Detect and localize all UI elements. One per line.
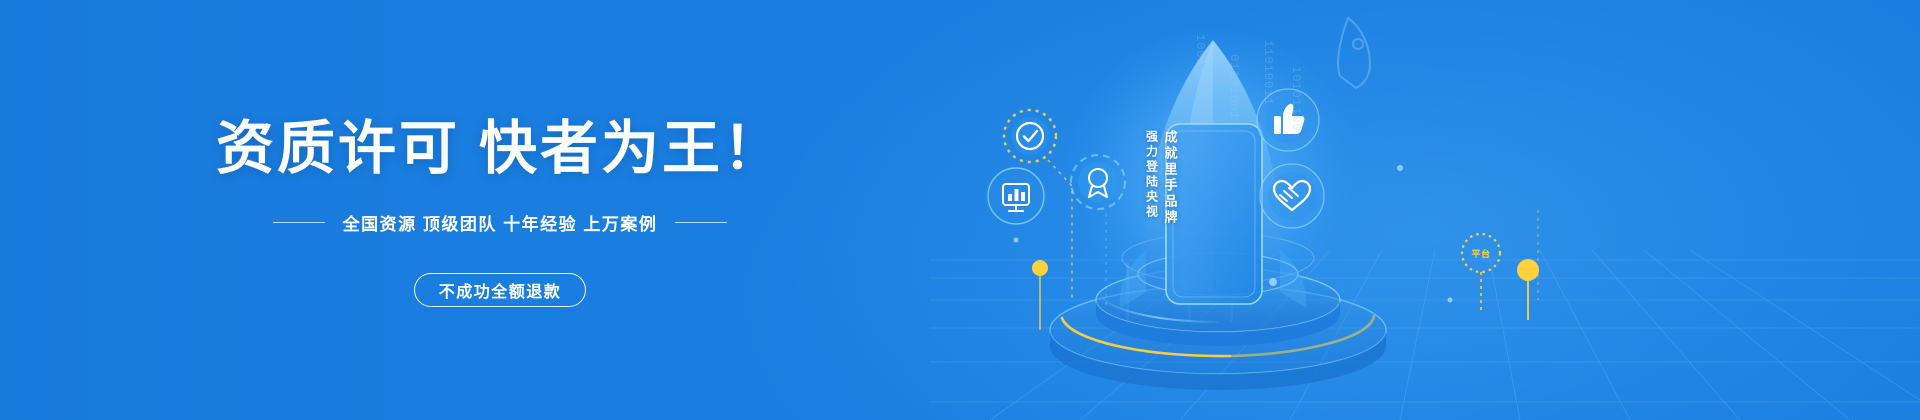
hero-illustration: 成就里手品牌 强力登陆央视 平台 10011010 01101001 11010… (930, 0, 1920, 420)
promotional-banner: 成就里手品牌 强力登陆央视 平台 10011010 01101001 11010… (0, 0, 1920, 420)
binary-stream-1: 10011010 (1192, 34, 1207, 100)
binary-stream-3: 11010011 (1260, 40, 1275, 106)
subtitle-text: 全国资源 顶级团队 十年经验 上万案例 (343, 210, 658, 235)
yellow-pin-marker (1517, 259, 1539, 320)
subtitle-dash-right (675, 222, 727, 223)
card-column-right: 成就里手品牌 (1164, 130, 1177, 265)
binary-stream-4: 10101100 (1288, 66, 1303, 132)
handshake-heart-icon (1260, 164, 1324, 228)
yellow-pin-marker-small (1032, 260, 1048, 330)
banner-copy-block: 资质许可 快者为王！ 全国资源 顶级团队 十年经验 上万案例 不成功全额退款 (0, 0, 1000, 420)
info-card-text: 成就里手品牌 强力登陆央视 (1126, 130, 1196, 265)
subtitle-dash-left (273, 222, 325, 223)
check-circle-icon (1004, 110, 1056, 162)
card-column-left: 强力登陆央视 (1146, 130, 1158, 265)
binary-stream-2: 01101001 (1226, 54, 1241, 120)
refund-guarantee-button[interactable]: 不成功全额退款 (414, 273, 587, 307)
platform-tag-label: 平台 (1460, 232, 1502, 274)
page-title: 资质许可 快者为王！ (216, 120, 784, 178)
rocket-doodle-icon (1338, 18, 1370, 88)
subtitle-row: 全国资源 顶级团队 十年经验 上万案例 (273, 210, 728, 235)
